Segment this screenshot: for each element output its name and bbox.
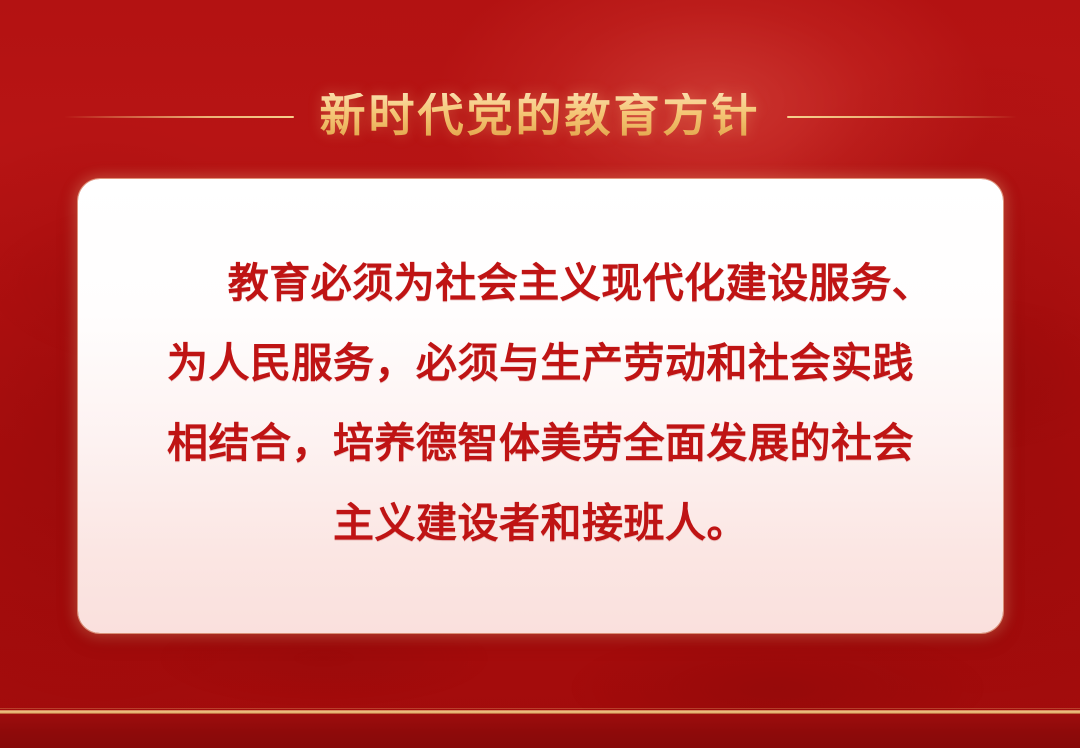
quote-line: 教育必须为社会主义现代化建设服务、 — [100, 243, 981, 323]
quote-line: 为人民服务，必须与生产劳动和社会实践 — [100, 323, 981, 403]
quote-card-body: 教育必须为社会主义现代化建设服务、 为人民服务，必须与生产劳动和社会实践 相结合… — [78, 243, 1003, 563]
quote-line: 主义建设者和接班人。 — [100, 483, 981, 563]
bottom-band — [0, 714, 1080, 748]
quote-line: 相结合，培养德智体美劳全面发展的社会 — [100, 403, 981, 483]
poster-root: 新时代党的教育方针 教育必须为社会主义现代化建设服务、 为人民服务，必须与生产劳… — [0, 0, 1080, 748]
quote-card: 教育必须为社会主义现代化建设服务、 为人民服务，必须与生产劳动和社会实践 相结合… — [78, 179, 1003, 633]
bottom-hairline — [0, 708, 1080, 709]
title-right-rule-icon — [787, 116, 1017, 118]
page-title: 新时代党的教育方针 — [320, 93, 761, 141]
title-left-rule-icon — [64, 116, 294, 118]
title-banner: 新时代党的教育方针 — [0, 78, 1080, 156]
